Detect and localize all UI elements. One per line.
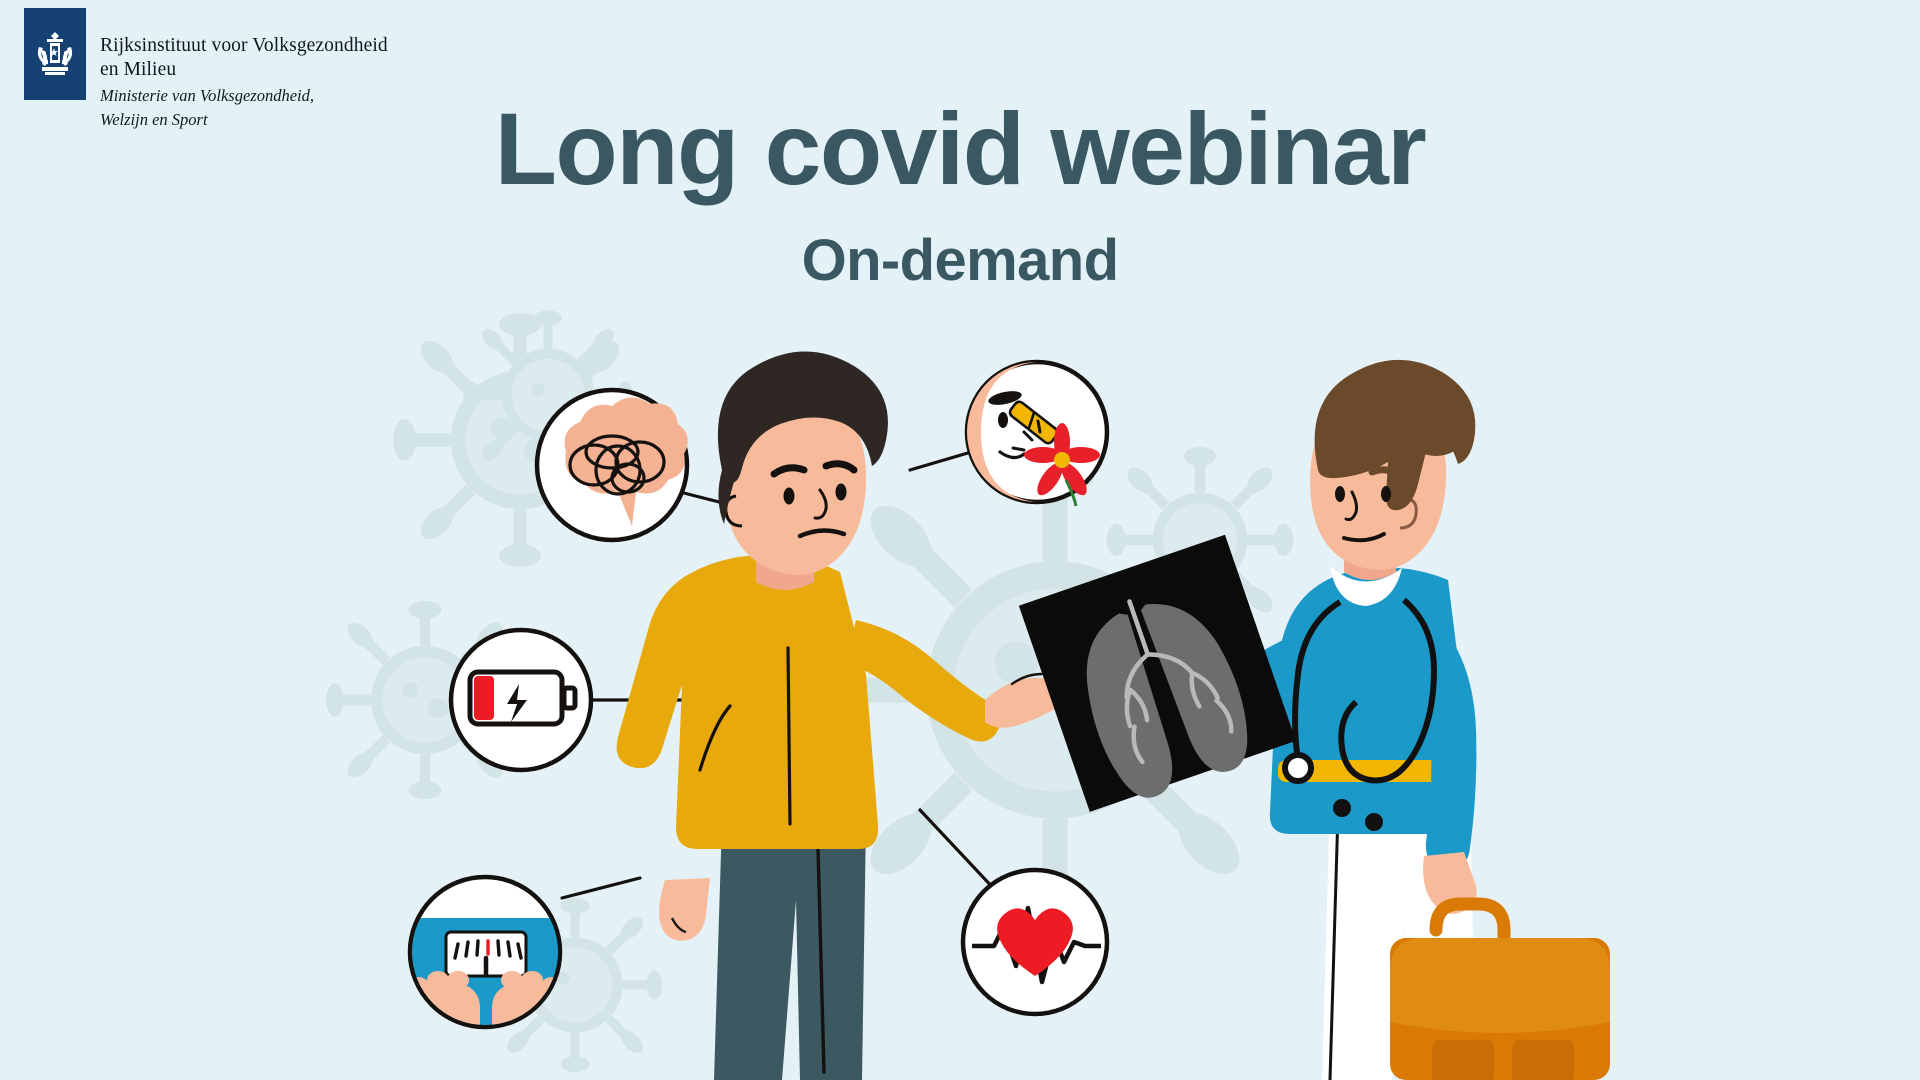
stethoscope-chestpiece: [1285, 755, 1311, 781]
loss-of-smell-icon: [967, 362, 1107, 506]
logo-line-3: Ministerie van Volksgezondheid,: [100, 85, 388, 106]
rivm-logo: Rijksinstituut voor Volksgezondheid en M…: [24, 8, 388, 130]
logo-line-1: Rijksinstituut voor Volksgezondheid: [100, 34, 388, 58]
fatigue-battery-icon: [451, 630, 591, 770]
logo-line-4: Welzijn en Sport: [100, 109, 388, 130]
coat-of-arms-icon: [34, 29, 76, 83]
logo-line-2: en Milieu: [100, 58, 388, 82]
logo-text-block: Rijksinstituut voor Volksgezondheid en M…: [100, 8, 388, 130]
logo-bar: [24, 8, 86, 100]
hair-bun: [1400, 384, 1472, 456]
connector-scale: [562, 878, 640, 898]
page-subtitle: On-demand: [0, 232, 1920, 290]
heart-palpitations-icon: [963, 870, 1107, 1014]
slide-canvas: Rijksinstituut voor Volksgezondheid en M…: [0, 0, 1920, 1080]
brain-fog-icon: [537, 390, 688, 540]
